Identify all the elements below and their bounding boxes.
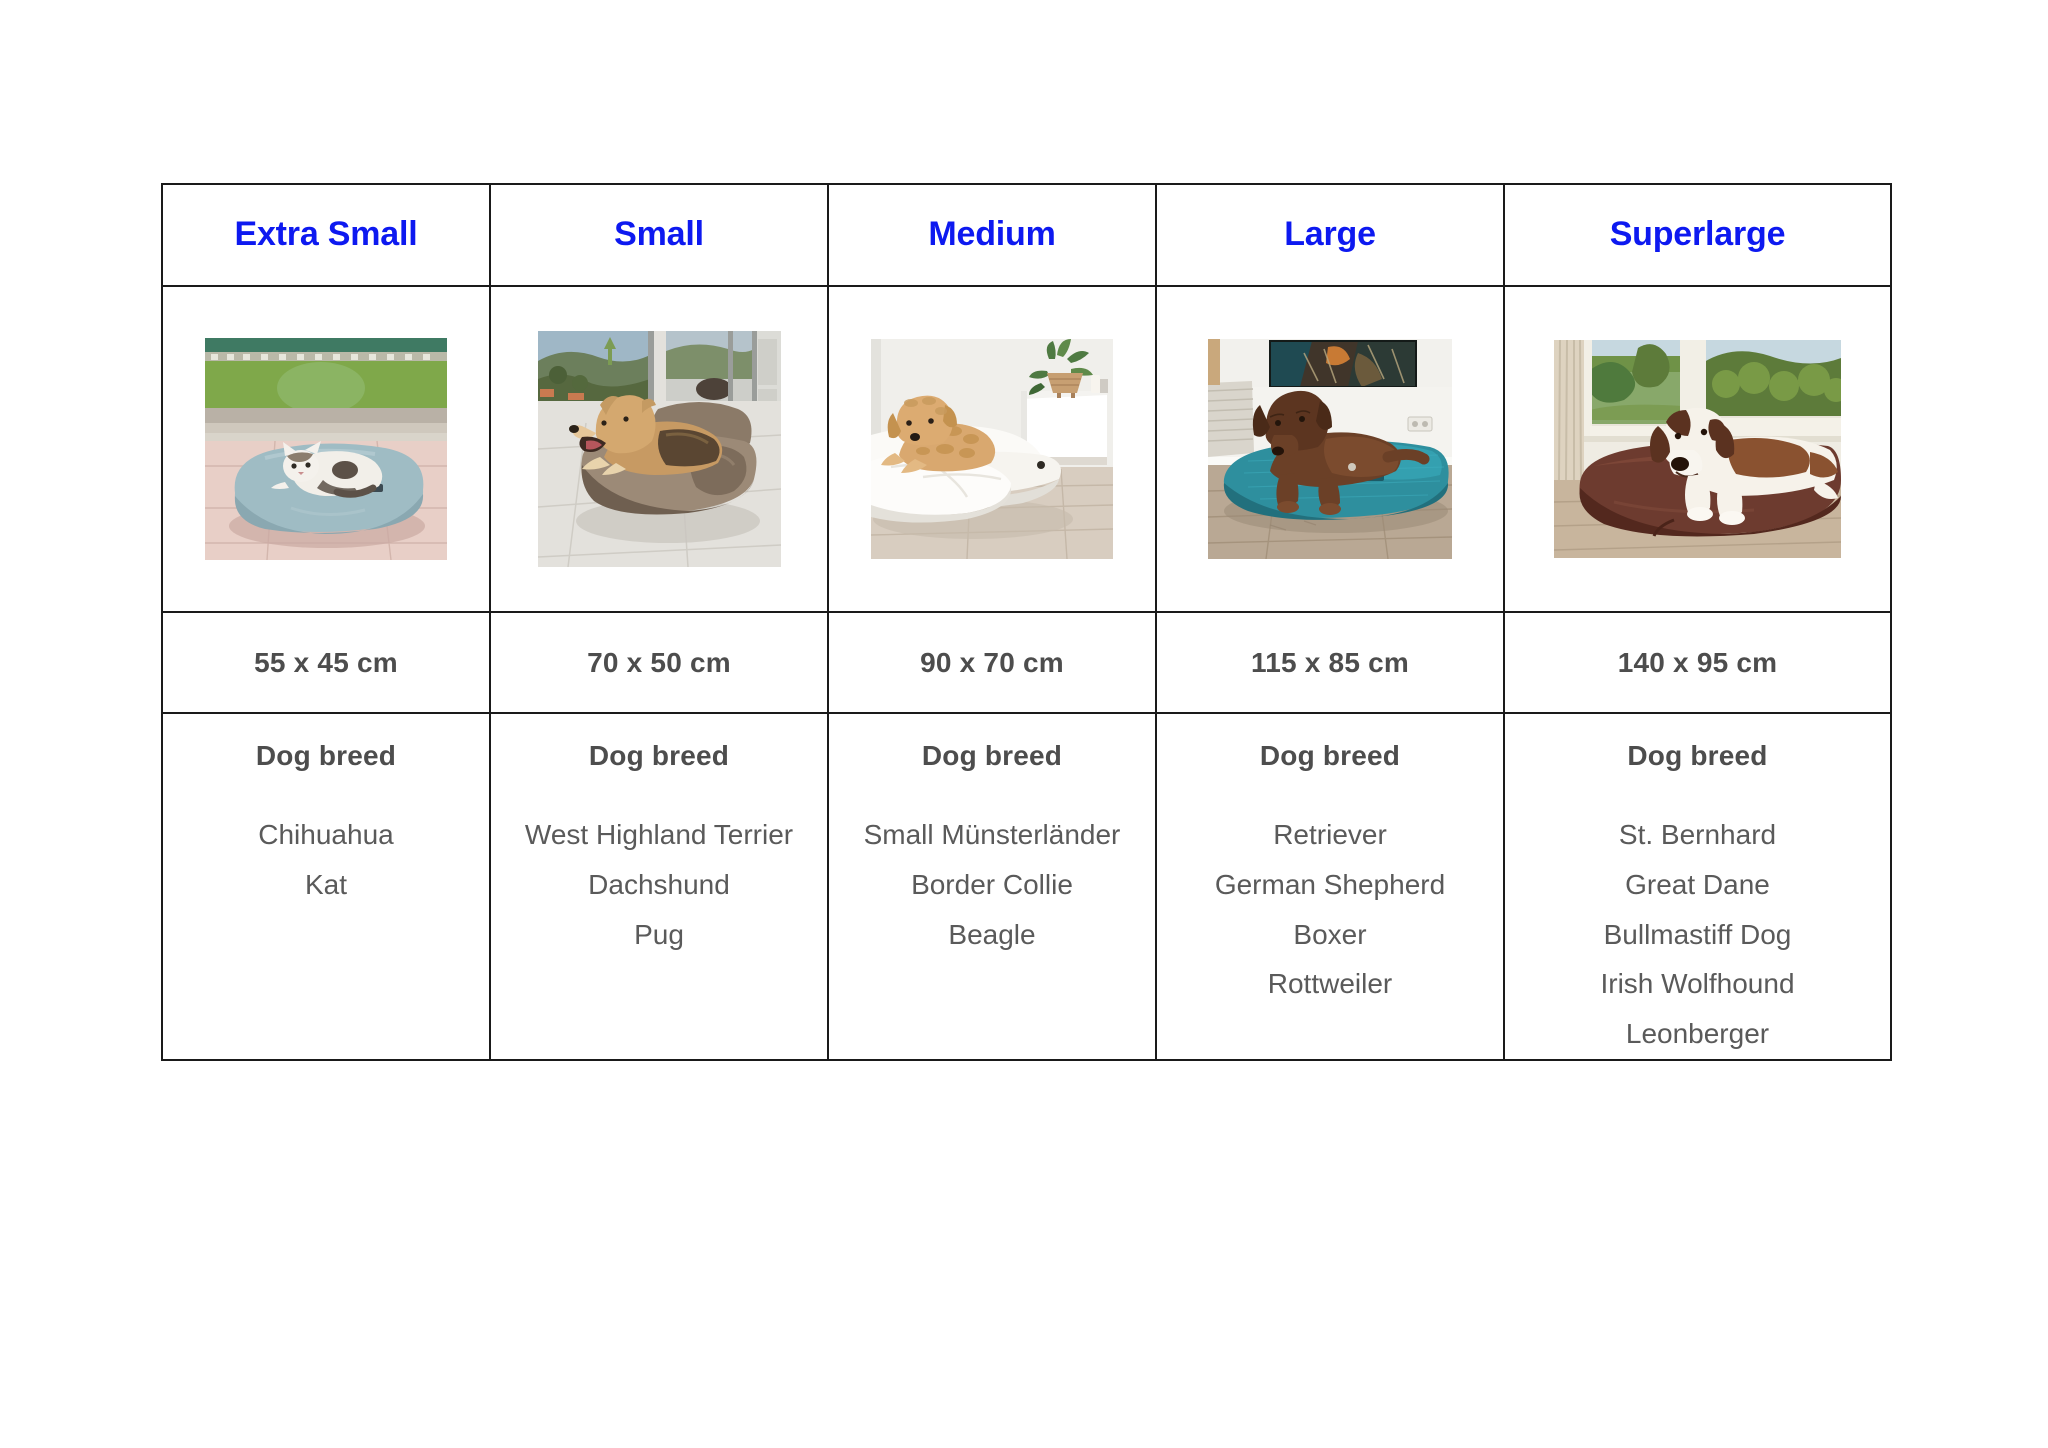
- breed-list-small: West Highland Terrier Dachshund Pug: [491, 810, 827, 959]
- dimensions-large: 115 x 85 cm: [1157, 647, 1503, 679]
- breed-heading-large: Dog breed: [1157, 740, 1503, 772]
- photo-superlarge-bed: [1554, 340, 1841, 558]
- dimensions-medium: 90 x 70 cm: [829, 647, 1155, 679]
- cell-photo-superlarge: [1504, 286, 1891, 612]
- cell-breeds-medium: Dog breed Small Münsterländer Border Col…: [828, 713, 1156, 1060]
- list-item: Boxer: [1157, 910, 1503, 960]
- list-item: Kat: [163, 860, 489, 910]
- breed-cell-large: Dog breed Retriever German Shepherd Boxe…: [1157, 714, 1503, 1009]
- list-item: Bullmastiff Dog: [1505, 910, 1890, 960]
- breed-heading-medium: Dog breed: [829, 740, 1155, 772]
- cell-photo-medium: [828, 286, 1156, 612]
- photo-medium-bed: [871, 339, 1113, 559]
- list-item: Dachshund: [491, 860, 827, 910]
- photo-wrap-superlarge: [1505, 287, 1890, 611]
- photo-wrap-medium: [829, 287, 1155, 611]
- cell-header-extra-small: Extra Small: [162, 184, 490, 286]
- cell-breeds-extra-small: Dog breed Chihuahua Kat: [162, 713, 490, 1060]
- breed-heading-small: Dog breed: [491, 740, 827, 772]
- photo-large-bed: [1208, 339, 1452, 559]
- cell-dimensions-large: 115 x 85 cm: [1156, 612, 1504, 713]
- cell-header-medium: Medium: [828, 184, 1156, 286]
- cell-breeds-small: Dog breed West Highland Terrier Dachshun…: [490, 713, 828, 1060]
- breed-list-extra-small: Chihuahua Kat: [163, 810, 489, 910]
- list-item: Chihuahua: [163, 810, 489, 860]
- breed-list-medium: Small Münsterländer Border Collie Beagle: [829, 810, 1155, 959]
- list-item: Border Collie: [829, 860, 1155, 910]
- dimensions-extra-small: 55 x 45 cm: [163, 647, 489, 679]
- size-name-large: Large: [1157, 216, 1503, 253]
- list-item: West Highland Terrier: [491, 810, 827, 860]
- page-root: Extra Small Small Medium Large Superlarg…: [0, 0, 2048, 1448]
- list-item: Pug: [491, 910, 827, 960]
- cell-header-large: Large: [1156, 184, 1504, 286]
- photo-small-bed: [538, 331, 781, 567]
- table-row-photos: [162, 286, 1891, 612]
- table-row-size-names: Extra Small Small Medium Large Superlarg…: [162, 184, 1891, 286]
- list-item: German Shepherd: [1157, 860, 1503, 910]
- dog-bed-size-table: Extra Small Small Medium Large Superlarg…: [161, 183, 1892, 1061]
- cell-photo-extra-small: [162, 286, 490, 612]
- cell-header-superlarge: Superlarge: [1504, 184, 1891, 286]
- size-name-medium: Medium: [829, 216, 1155, 253]
- size-name-extra-small: Extra Small: [163, 216, 489, 253]
- list-item: Irish Wolfhound: [1505, 959, 1890, 1009]
- cell-dimensions-extra-small: 55 x 45 cm: [162, 612, 490, 713]
- breed-list-large: Retriever German Shepherd Boxer Rottweil…: [1157, 810, 1503, 1009]
- breed-cell-extra-small: Dog breed Chihuahua Kat: [163, 714, 489, 910]
- photo-wrap-large: [1157, 287, 1503, 611]
- photo-wrap-extra-small: [163, 287, 489, 611]
- table-row-breeds: Dog breed Chihuahua Kat Dog breed West H…: [162, 713, 1891, 1060]
- breed-list-superlarge: St. Bernhard Great Dane Bullmastiff Dog …: [1505, 810, 1890, 1059]
- cell-breeds-superlarge: Dog breed St. Bernhard Great Dane Bullma…: [1504, 713, 1891, 1060]
- cell-dimensions-superlarge: 140 x 95 cm: [1504, 612, 1891, 713]
- cell-breeds-large: Dog breed Retriever German Shepherd Boxe…: [1156, 713, 1504, 1060]
- list-item: Retriever: [1157, 810, 1503, 860]
- cell-photo-small: [490, 286, 828, 612]
- list-item: St. Bernhard: [1505, 810, 1890, 860]
- list-item: Rottweiler: [1157, 959, 1503, 1009]
- list-item: Beagle: [829, 910, 1155, 960]
- breed-cell-superlarge: Dog breed St. Bernhard Great Dane Bullma…: [1505, 714, 1890, 1059]
- photo-extra-small-bed: [205, 338, 447, 560]
- breed-cell-medium: Dog breed Small Münsterländer Border Col…: [829, 714, 1155, 959]
- dimensions-superlarge: 140 x 95 cm: [1505, 647, 1890, 679]
- cell-dimensions-small: 70 x 50 cm: [490, 612, 828, 713]
- list-item: Leonberger: [1505, 1009, 1890, 1059]
- cell-dimensions-medium: 90 x 70 cm: [828, 612, 1156, 713]
- size-name-superlarge: Superlarge: [1505, 216, 1890, 253]
- cell-header-small: Small: [490, 184, 828, 286]
- breed-cell-small: Dog breed West Highland Terrier Dachshun…: [491, 714, 827, 959]
- size-name-small: Small: [491, 216, 827, 253]
- list-item: Great Dane: [1505, 860, 1890, 910]
- table-row-dimensions: 55 x 45 cm 70 x 50 cm 90 x 70 cm 115 x 8…: [162, 612, 1891, 713]
- list-item: Small Münsterländer: [829, 810, 1155, 860]
- dimensions-small: 70 x 50 cm: [491, 647, 827, 679]
- cell-photo-large: [1156, 286, 1504, 612]
- photo-wrap-small: [491, 287, 827, 611]
- breed-heading-superlarge: Dog breed: [1505, 740, 1890, 772]
- breed-heading-extra-small: Dog breed: [163, 740, 489, 772]
